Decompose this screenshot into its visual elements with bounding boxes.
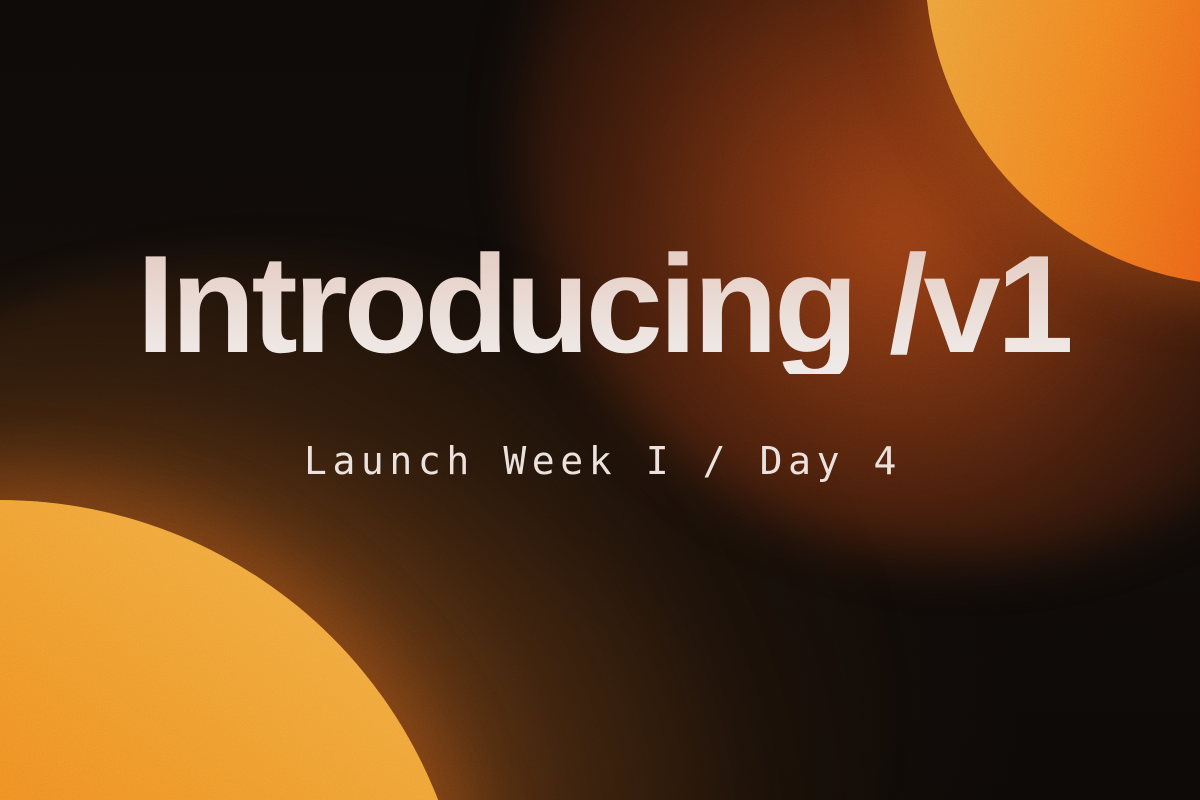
page-title: Introducing /v1 <box>130 235 1069 374</box>
hero-content: Introducing /v1 Launch Week I / Day 4 <box>0 0 1200 800</box>
hero-subtitle: Launch Week I / Day 4 <box>298 442 902 480</box>
launch-announcement-hero: Introducing /v1 Launch Week I / Day 4 <box>0 0 1200 800</box>
